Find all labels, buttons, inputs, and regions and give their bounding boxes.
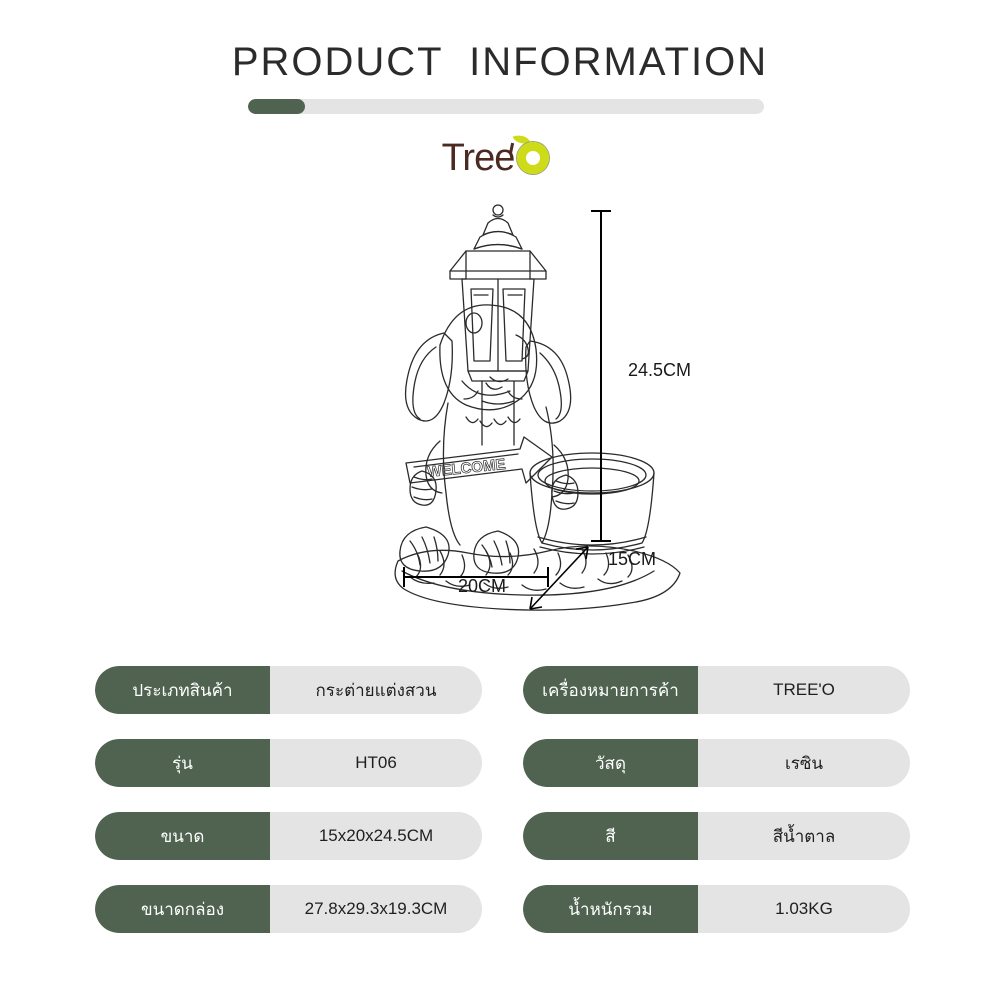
brand-logo-o-icon xyxy=(514,134,558,182)
spec-row: รุ่นHT06 xyxy=(95,739,482,787)
spec-row: ขนาดกล่อง27.8x29.3x19.3CM xyxy=(95,885,482,933)
dimension-label-width: 20CM xyxy=(458,576,506,597)
spec-key: น้ำหนักรวม xyxy=(523,885,698,933)
spec-value: สีน้ำตาล xyxy=(698,812,910,860)
spec-row: สีสีน้ำตาล xyxy=(523,812,910,860)
spec-value: 15x20x24.5CM xyxy=(270,812,482,860)
spec-row: ขนาด15x20x24.5CM xyxy=(95,812,482,860)
spec-value: 1.03KG xyxy=(698,885,910,933)
spec-column-right: เครื่องหมายการค้าTREE'Oวัสดุเรซินสีสีน้ำ… xyxy=(523,666,910,958)
brand-logo-text: Tree xyxy=(442,137,515,179)
spec-key: รุ่น xyxy=(95,739,270,787)
spec-key: วัสดุ xyxy=(523,739,698,787)
spec-value: TREE'O xyxy=(698,666,910,714)
progress-bar-fill xyxy=(248,99,305,114)
spec-row: ประเภทสินค้ากระต่ายแต่งสวน xyxy=(95,666,482,714)
spec-value: 27.8x29.3x19.3CM xyxy=(270,885,482,933)
spec-key: ประเภทสินค้า xyxy=(95,666,270,714)
spec-row: เครื่องหมายการค้าTREE'O xyxy=(523,666,910,714)
spec-value: กระต่ายแต่งสวน xyxy=(270,666,482,714)
progress-bar xyxy=(248,99,764,114)
spec-row: วัสดุเรซิน xyxy=(523,739,910,787)
product-illustration: WELCOME xyxy=(370,195,730,615)
spec-value: HT06 xyxy=(270,739,482,787)
dimension-label-height: 24.5CM xyxy=(628,360,691,381)
spec-value: เรซิน xyxy=(698,739,910,787)
spec-row: น้ำหนักรวม1.03KG xyxy=(523,885,910,933)
spec-key: ขนาด xyxy=(95,812,270,860)
brand-logo: Tree xyxy=(0,134,1000,182)
spec-key: เครื่องหมายการค้า xyxy=(523,666,698,714)
spec-key: ขนาดกล่อง xyxy=(95,885,270,933)
spec-column-left: ประเภทสินค้ากระต่ายแต่งสวนรุ่นHT06ขนาด15… xyxy=(95,666,482,958)
ring-icon xyxy=(517,142,549,174)
page-title: PRODUCT INFORMATION xyxy=(0,40,1000,85)
dimension-lines xyxy=(370,195,730,615)
apostrophe-icon xyxy=(509,143,514,154)
spec-key: สี xyxy=(523,812,698,860)
dimension-label-depth: 15CM xyxy=(608,549,656,570)
